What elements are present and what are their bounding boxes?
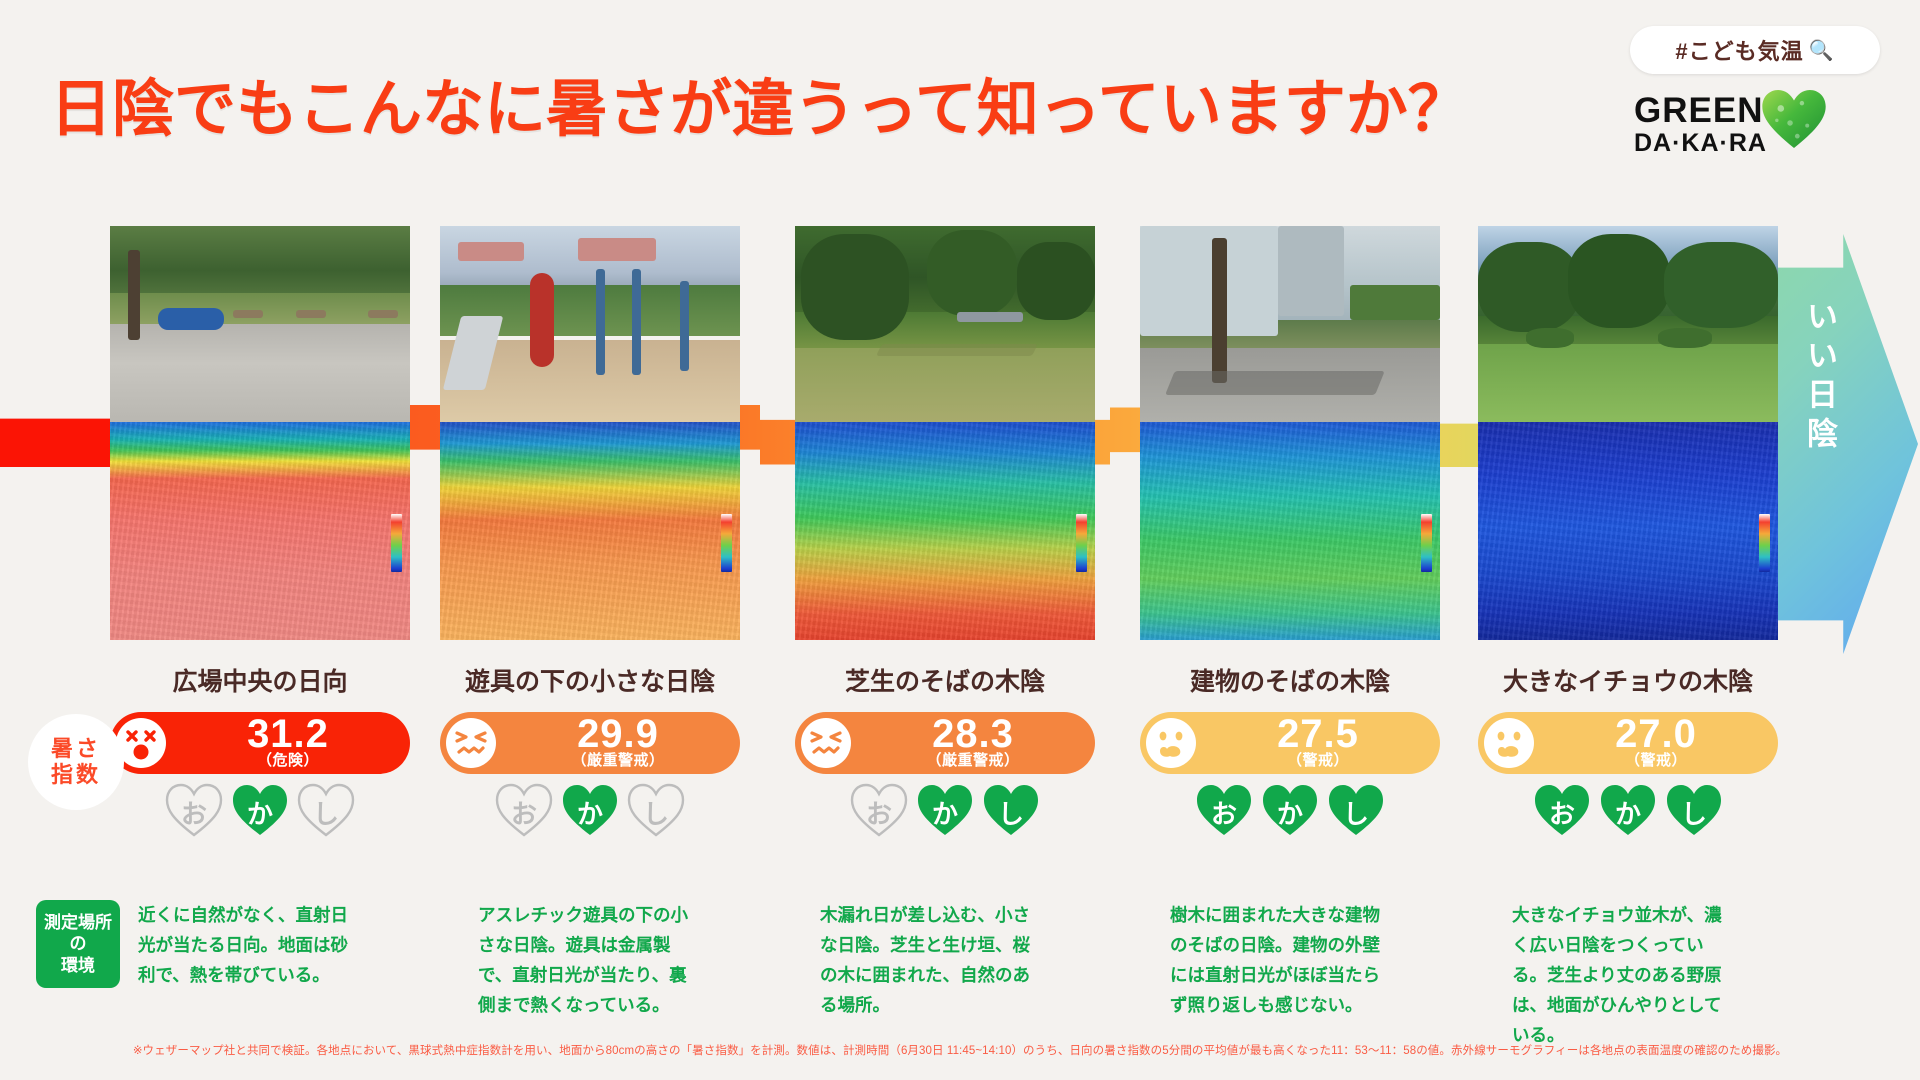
face-squint-icon (446, 718, 496, 768)
heat-index-pill: 27.0 （警戒） (1478, 712, 1778, 774)
heart-o: お (849, 782, 909, 838)
heart-letter: お (1532, 782, 1592, 838)
measurement-column: 広場中央の日向 31.2 （危険） お (110, 226, 410, 640)
heart-shi: し (296, 782, 356, 838)
heart-o: お (494, 782, 554, 838)
environment-badge: 測定場所 の 環境 (36, 900, 120, 988)
measurement-column: 大きなイチョウの木陰 27.0 （警戒） お (1478, 226, 1778, 640)
heart-letter: し (296, 782, 356, 838)
heart-letter: お (164, 782, 224, 838)
heart-letter: か (230, 782, 290, 838)
heart-letter: し (1664, 782, 1724, 838)
okashi-hearts: お か し (795, 782, 1095, 838)
ginkgo-trees-photo (1478, 226, 1778, 422)
heat-index-value: 29.9 (577, 715, 659, 753)
footnote: ※ウェザーマップ社と共同で検証。各地点において、黒球式熱中症指数計を用い、地面か… (0, 1042, 1920, 1058)
column-title: 広場中央の日向 (110, 662, 410, 698)
thermal-scale-bar (1421, 514, 1432, 572)
heart-shi: し (1664, 782, 1724, 838)
heart-ka: か (1260, 782, 1320, 838)
park-plaza-photo (110, 226, 410, 422)
heart-ka: か (1598, 782, 1658, 838)
heart-ka: か (560, 782, 620, 838)
thermal-scale-bar (391, 514, 402, 572)
brand-block: #こども気温 🔍 GREEN DA·KA·RA (1630, 26, 1880, 166)
measurement-column: 遊具の下の小さな日陰 29.9 （厳重警戒） お (440, 226, 740, 640)
heart-letter: し (1326, 782, 1386, 838)
heat-index-pill: 31.2 （危険） (110, 712, 410, 774)
heart-letter: か (1598, 782, 1658, 838)
heart-o: お (1532, 782, 1592, 838)
heart-ka: か (915, 782, 975, 838)
thermal-image-blue (1478, 422, 1778, 640)
heat-index-level: （危険） (257, 753, 319, 770)
column-title: 建物のそばの木陰 (1140, 662, 1440, 698)
face-worried-icon (1146, 718, 1196, 768)
environment-badge-line3: 環境 (61, 955, 95, 976)
brand-name: GREEN (1634, 93, 1767, 128)
heart-letter: お (1194, 782, 1254, 838)
heat-index-level: （厳重警戒） (926, 753, 1019, 770)
building-shade-photo (1140, 226, 1440, 422)
thermal-scale-bar (1759, 514, 1770, 572)
heat-index-pill: 27.5 （警戒） (1140, 712, 1440, 774)
column-description: 木漏れ日が差し込む、小さな日陰。芝生と生け垣、桜の木に囲まれた、自然のある場所。 (820, 900, 1040, 1020)
column-title: 遊具の下の小さな日陰 (440, 662, 740, 698)
okashi-hearts: お か し (110, 782, 410, 838)
heat-index-badge: 暑さ 指数 (28, 714, 124, 810)
column-description: 近くに自然がなく、直射日光が当たる日向。地面は砂利で、熱を帯びている。 (138, 900, 358, 990)
heart-letter: か (560, 782, 620, 838)
heart-shi: し (981, 782, 1041, 838)
lawn-trees-photo (795, 226, 1095, 422)
green-heart-icon (1761, 88, 1827, 150)
columns-container: 広場中央の日向 31.2 （危険） お (0, 226, 1920, 786)
heat-index-level: （警戒） (1625, 753, 1687, 770)
heat-index-value: 27.0 (1615, 715, 1697, 753)
column-description: 大きなイチョウ並木が、濃く広い日陰をつくっている。芝生より丈のある野原は、地面が… (1512, 900, 1732, 1050)
infographic-root: 日陰でもこんなに暑さが違うって知っていますか？ #こども気温 🔍 GREEN D… (0, 0, 1920, 1080)
okashi-hearts: お か し (440, 782, 740, 838)
face-squint-icon (801, 718, 851, 768)
column-description: 樹木に囲まれた大きな建物のそばの日陰。建物の外壁には直射日光がほぼ当たらず照り返… (1170, 900, 1390, 1020)
heart-letter: か (915, 782, 975, 838)
heart-shi: し (626, 782, 686, 838)
heat-index-badge-line2: 指数 (51, 762, 101, 788)
heart-ka: か (230, 782, 290, 838)
heat-index-pill: 29.9 （厳重警戒） (440, 712, 740, 774)
thermal-image-green (1140, 422, 1440, 640)
thermal-scale-bar (721, 514, 732, 572)
heat-index-pill: 28.3 （厳重警戒） (795, 712, 1095, 774)
heart-letter: し (981, 782, 1041, 838)
heat-index-value: 31.2 (247, 715, 329, 753)
heart-letter: お (494, 782, 554, 838)
measurement-column: 芝生のそばの木陰 28.3 （厳重警戒） お (795, 226, 1095, 640)
okashi-hearts: お か し (1478, 782, 1778, 838)
column-description: アスレチック遊具の下の小さな日陰。遊具は金属製で、直射日光が当たり、裏側まで熱く… (478, 900, 698, 1020)
hashtag-badge[interactable]: #こども気温 🔍 (1630, 26, 1880, 74)
heart-letter: か (1260, 782, 1320, 838)
face-worried-icon (1484, 718, 1534, 768)
heat-index-value: 28.3 (932, 715, 1014, 753)
playground-photo (440, 226, 740, 422)
heat-index-value: 27.5 (1277, 715, 1359, 753)
green-dakara-logo: GREEN DA·KA·RA (1630, 88, 1880, 156)
magnifier-icon: 🔍 (1809, 38, 1835, 63)
hashtag-label: #こども気温 (1675, 34, 1803, 66)
heat-index-badge-line1: 暑さ (51, 736, 101, 762)
heart-o: お (1194, 782, 1254, 838)
heart-shi: し (1326, 782, 1386, 838)
environment-badge-line1: 測定場所 (44, 912, 112, 933)
environment-badge-line2: の (70, 933, 87, 954)
thermal-image-orange (440, 422, 740, 640)
thermal-scale-bar (1076, 514, 1087, 572)
thermal-image-red (110, 422, 410, 640)
okashi-hearts: お か し (1140, 782, 1440, 838)
heart-letter: お (849, 782, 909, 838)
page-headline: 日陰でもこんなに暑さが違うって知っていますか？ (50, 58, 1470, 148)
column-title: 大きなイチョウの木陰 (1478, 662, 1778, 698)
thermal-image-mixed (795, 422, 1095, 640)
heart-letter: し (626, 782, 686, 838)
heart-o: お (164, 782, 224, 838)
heat-index-level: （厳重警戒） (571, 753, 664, 770)
brand-sub: DA·KA·RA (1634, 131, 1767, 156)
measurement-column: 建物のそばの木陰 27.5 （警戒） お (1140, 226, 1440, 640)
heat-index-level: （警戒） (1287, 753, 1349, 770)
column-title: 芝生のそばの木陰 (795, 662, 1095, 698)
